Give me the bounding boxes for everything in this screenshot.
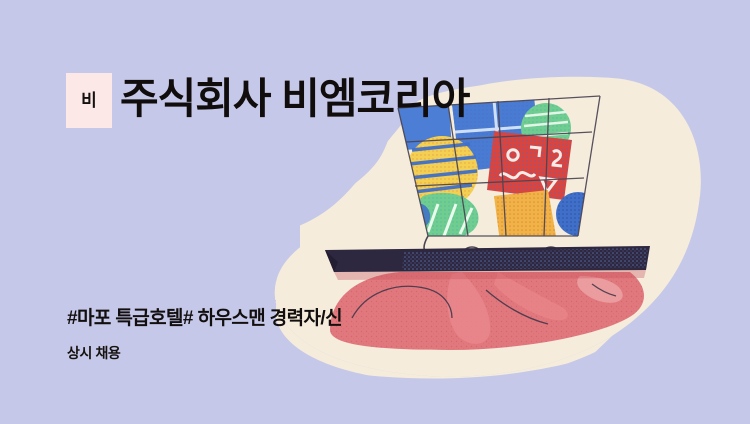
logo-badge: 비: [66, 73, 112, 128]
job-headline: #마포 특급호텔# 하우스맨 경력자/신: [67, 306, 342, 332]
job-subline: 상시 채용: [67, 343, 120, 363]
page-title: 주식회사 비엠코리아: [120, 69, 469, 129]
recruitment-poster: 비 주식회사 비엠코리아 #마포 특급호텔# 하우스맨 경력자/신 상시 채용: [0, 0, 750, 424]
logo-badge-text: 비: [81, 92, 97, 109]
dark-platform-bar: [325, 246, 650, 272]
